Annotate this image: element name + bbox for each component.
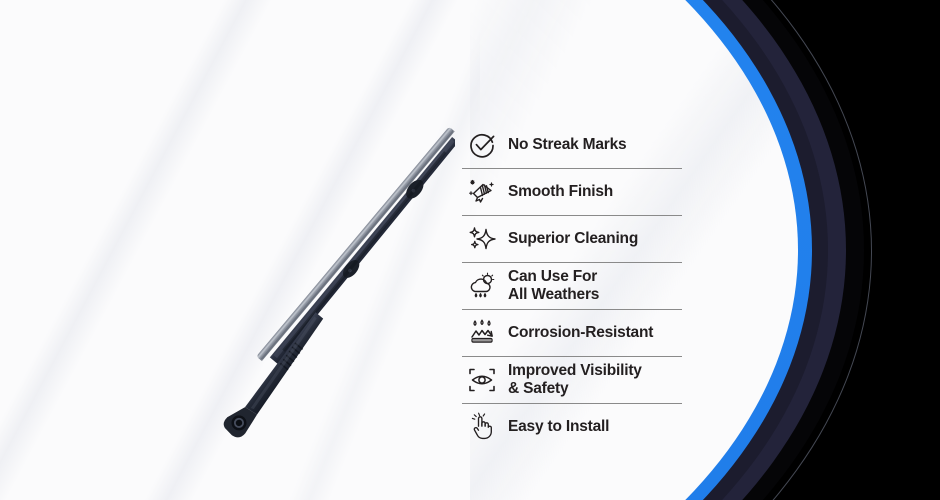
eye-focus-icon (462, 362, 502, 398)
feature-label: Improved Visibility & Safety (508, 362, 642, 399)
water-repellent-icon (462, 315, 502, 351)
infographic-banner: No Streak Marks Smooth Finish (0, 0, 940, 500)
feature-label: Superior Cleaning (508, 230, 638, 248)
feature-label: Can Use For All Weathers (508, 268, 599, 305)
feature-item-improved-visibility: Improved Visibility & Safety (462, 356, 682, 403)
feature-item-all-weathers: Can Use For All Weathers (462, 262, 682, 309)
feature-list: No Streak Marks Smooth Finish (462, 122, 682, 450)
feature-label: No Streak Marks (508, 136, 626, 154)
sparkles-icon (462, 221, 502, 257)
feature-item-easy-to-install: Easy to Install (462, 403, 682, 450)
feature-label: Smooth Finish (508, 183, 613, 201)
feature-item-no-streak-marks: No Streak Marks (462, 122, 682, 168)
wiping-hand-icon (462, 174, 502, 210)
product-image-wiper-blade (215, 80, 455, 470)
wiper-rubber-rail (256, 127, 455, 362)
wiper-blade-body (267, 136, 455, 365)
check-circle-icon (462, 127, 502, 163)
feature-item-smooth-finish: Smooth Finish (462, 168, 682, 215)
wiper-arm (220, 312, 334, 441)
cloud-rain-sun-icon (462, 268, 502, 304)
feature-label: Corrosion-Resistant (508, 324, 653, 342)
feature-item-corrosion-resistant: Corrosion-Resistant (462, 309, 682, 356)
feature-item-superior-cleaning: Superior Cleaning (462, 215, 682, 262)
tap-hand-icon (462, 409, 502, 445)
feature-label: Easy to Install (508, 418, 609, 436)
